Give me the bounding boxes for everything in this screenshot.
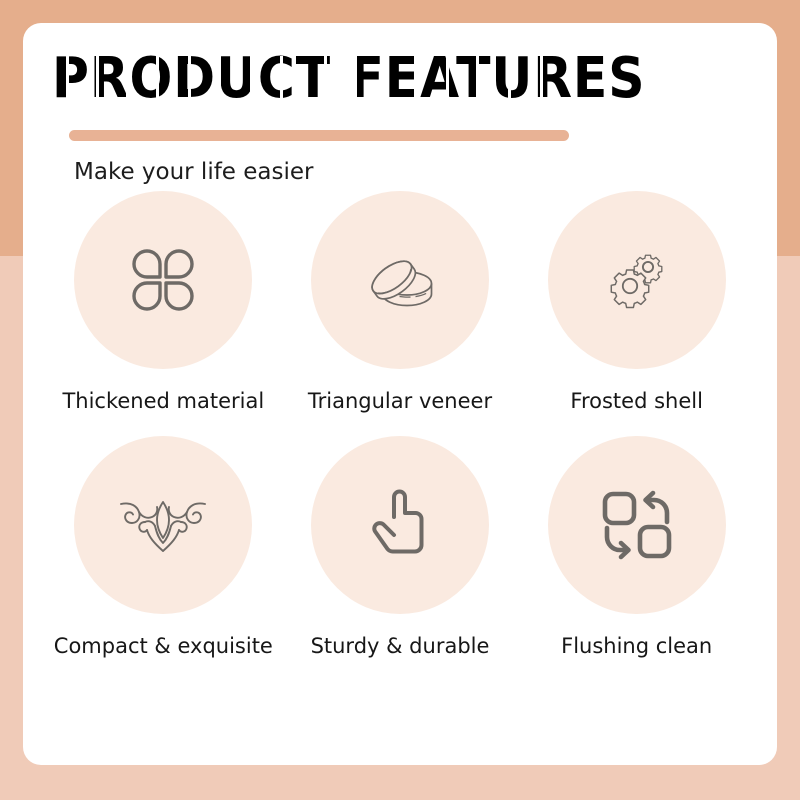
- feature-item-triangular-veneer: Triangular veneer: [282, 191, 519, 414]
- feature-icon-badge: [74, 436, 252, 614]
- page-title: PRODUCT FEATURES: [52, 50, 628, 108]
- feature-icon-badge: [311, 436, 489, 614]
- feature-label: Compact & exquisite: [54, 633, 273, 659]
- feature-label: Triangular veneer: [308, 388, 492, 414]
- feature-item-thickened-material: Thickened material: [45, 191, 282, 414]
- feature-label: Flushing clean: [561, 633, 712, 659]
- header: PRODUCT FEATURES Make your life easi: [52, 50, 692, 108]
- swap-squares-icon: [597, 485, 677, 565]
- poster-root: PRODUCT FEATURES Make your life easi: [0, 0, 800, 800]
- feature-icon-badge: [548, 191, 726, 369]
- clover-petals-icon: [127, 244, 199, 316]
- page-subtitle: Make your life easier: [74, 158, 314, 186]
- stacked-compacts-icon: [357, 237, 443, 323]
- feature-icon-badge: [74, 191, 252, 369]
- feature-item-sturdy-durable: Sturdy & durable: [282, 436, 519, 659]
- feature-item-compact-exquisite: Compact & exquisite: [45, 436, 282, 659]
- feature-label: Thickened material: [62, 388, 264, 414]
- content-card: PRODUCT FEATURES Make your life easi: [23, 23, 777, 765]
- feature-grid: Thickened material: [45, 191, 755, 659]
- ornamental-flourish-icon: [115, 490, 211, 560]
- feature-item-flushing-clean: Flushing clean: [518, 436, 755, 659]
- title-underline-bar: [69, 130, 569, 141]
- feature-icon-badge: [548, 436, 726, 614]
- feature-label: Sturdy & durable: [311, 633, 490, 659]
- feature-icon-badge: [311, 191, 489, 369]
- gears-icon: [598, 241, 676, 319]
- pointing-hand-icon: [366, 487, 434, 563]
- feature-item-frosted-shell: Frosted shell: [518, 191, 755, 414]
- feature-label: Frosted shell: [570, 388, 703, 414]
